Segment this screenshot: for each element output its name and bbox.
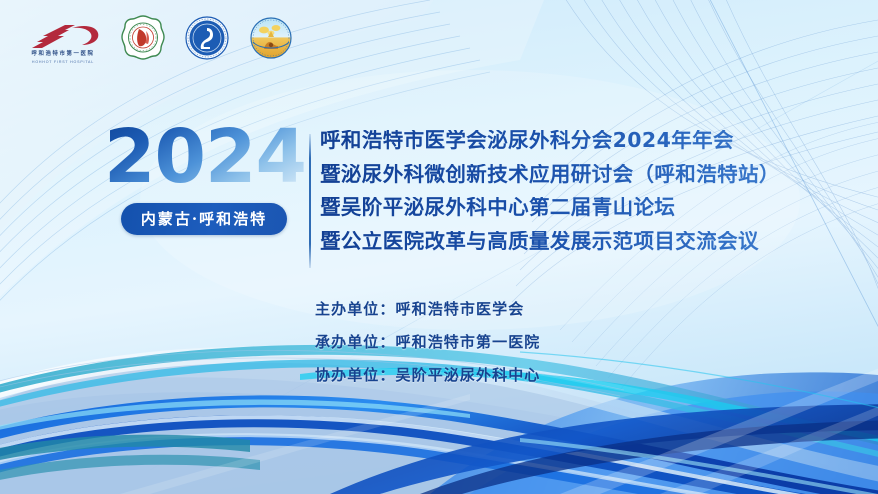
hospital-logo-en: HOHHOT FIRST HOSPITAL bbox=[24, 60, 102, 64]
title-accent-rule bbox=[309, 134, 311, 268]
title-line-1: 呼和浩特市医学会泌尿外科分会2024年年会 bbox=[320, 130, 865, 151]
conference-poster: 呼和浩特市第一医院 HOHHOT FIRST HOSPITAL bbox=[0, 0, 878, 494]
title-line-3: 暨吴阶平泌尿外科中心第二届青山论坛 bbox=[320, 197, 865, 218]
location-badge: 内蒙古·呼和浩特 bbox=[121, 203, 287, 235]
organizer-coorganizer: 协办单位：吴阶平泌尿外科中心 bbox=[315, 368, 540, 383]
association-seal-icon bbox=[120, 15, 166, 61]
organizer-host: 主办单位：呼和浩特市医学会 bbox=[315, 302, 540, 317]
title-line-2: 暨泌尿外科微创新技术应用研讨会（呼和浩特站） bbox=[320, 164, 865, 185]
organizer-block: 主办单位：呼和浩特市医学会 承办单位：呼和浩特市第一医院 协办单位：吴阶平泌尿外… bbox=[315, 302, 540, 383]
hohhot-first-hospital-logo: 呼和浩特市第一医院 HOHHOT FIRST HOSPITAL bbox=[24, 12, 102, 64]
medical-association-emblem bbox=[120, 15, 166, 61]
year-block: 2024 内蒙古·呼和浩特 bbox=[104, 122, 304, 235]
title-line-4: 暨公立医院改革与高质量发展示范项目交流会议 bbox=[320, 231, 865, 252]
sponsor-logo-row: 呼和浩特市第一医院 HOHHOT FIRST HOSPITAL bbox=[24, 12, 294, 64]
urology-seal-icon bbox=[184, 15, 230, 61]
grassland-seal-icon bbox=[248, 15, 294, 61]
organizer-undertaker: 承办单位：呼和浩特市第一医院 bbox=[315, 335, 540, 350]
conference-title-block: 呼和浩特市医学会泌尿外科分会2024年年会 暨泌尿外科微创新技术应用研讨会（呼和… bbox=[320, 130, 865, 251]
inner-mongolia-emblem bbox=[248, 15, 294, 61]
year-2024: 2024 bbox=[104, 122, 304, 193]
urology-society-emblem bbox=[184, 15, 230, 61]
hospital-logo-cn: 呼和浩特市第一医院 bbox=[24, 49, 102, 57]
